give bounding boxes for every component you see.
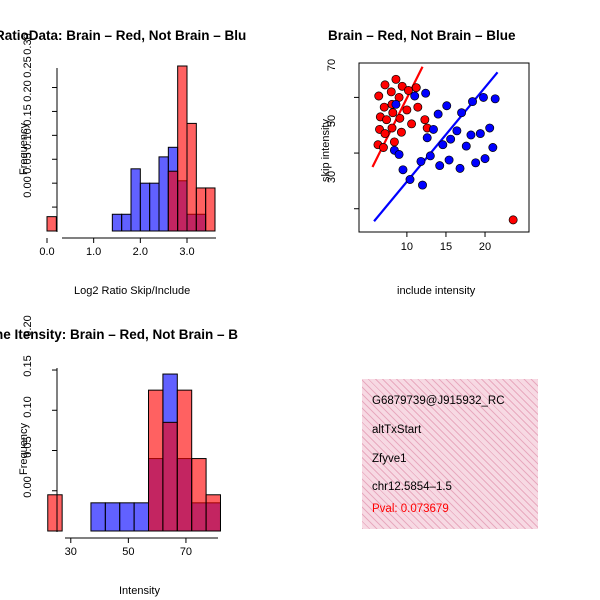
tick-label: 15 xyxy=(436,241,456,253)
scatter-point xyxy=(412,84,420,92)
hist-intensity-plot xyxy=(0,300,300,600)
histogram-bar xyxy=(120,503,134,531)
scatter-point xyxy=(381,129,389,137)
info-line-probe: G6879739@J915932_RC xyxy=(372,395,505,407)
tick-label: 3.0 xyxy=(175,246,199,258)
scatter-point xyxy=(392,75,400,83)
scatter-point xyxy=(381,81,389,89)
tick-label: 30 xyxy=(61,546,81,558)
scatter-point xyxy=(457,109,465,117)
histogram-bar xyxy=(206,188,215,231)
scatter-point xyxy=(418,181,426,189)
tick-label: 0.10 xyxy=(22,385,34,429)
scatter-point xyxy=(462,142,470,150)
tick-label: 50 xyxy=(326,105,338,137)
tick-label: 20 xyxy=(475,241,495,253)
scatter-point xyxy=(392,100,400,108)
scatter-point xyxy=(468,97,476,105)
tick-label: 0.20 xyxy=(22,304,34,348)
scatter-point xyxy=(429,125,437,133)
tick-label: 0.15 xyxy=(22,344,34,388)
tick-label: 0.05 xyxy=(22,425,34,469)
scatter-point xyxy=(403,106,411,114)
scatter-point xyxy=(421,116,429,124)
tick-label: 2.0 xyxy=(128,246,152,258)
histogram-bar xyxy=(122,214,131,231)
scatter-point xyxy=(399,166,407,174)
scatter-point xyxy=(382,116,390,124)
panel-info: G6879739@J915932_RC altTxStart Zfyve1 ch… xyxy=(300,300,600,600)
histogram-bar xyxy=(131,169,140,231)
scatter-point xyxy=(472,159,480,167)
scatter-point xyxy=(447,135,455,143)
scatter-point xyxy=(414,103,422,111)
scatter-point xyxy=(407,120,415,128)
histogram-bar xyxy=(168,171,177,231)
histogram-bar xyxy=(187,123,196,231)
scatter-point xyxy=(375,92,383,100)
scatter-plot xyxy=(300,0,600,300)
histogram-bar xyxy=(196,188,205,231)
scatter-point xyxy=(509,216,517,224)
histogram-bar xyxy=(163,422,177,531)
scatter-point xyxy=(436,161,444,169)
histogram-bar xyxy=(140,183,149,231)
scatter-point xyxy=(476,129,484,137)
scatter-point xyxy=(453,127,461,135)
scatter-point xyxy=(417,157,425,165)
scatter-point xyxy=(389,109,397,117)
scatter-point xyxy=(434,110,442,118)
tick-label: 30 xyxy=(326,161,338,193)
scatter-point xyxy=(395,150,403,158)
scatter-point xyxy=(479,93,487,101)
histogram-bar xyxy=(112,214,121,231)
tick-label: 10 xyxy=(397,241,417,253)
info-line-gene: Zfyve1 xyxy=(372,453,407,465)
scatter-point xyxy=(491,95,499,103)
tick-label: 1.0 xyxy=(82,246,106,258)
scatter-point xyxy=(486,124,494,132)
scatter-point xyxy=(422,89,430,97)
histogram-bar xyxy=(105,503,119,531)
tick-label: 70 xyxy=(176,546,196,558)
scatter-point xyxy=(390,138,398,146)
scatter-point xyxy=(406,175,414,183)
histogram-bar xyxy=(178,66,187,231)
histogram-bar xyxy=(149,390,163,531)
histogram-bar xyxy=(192,459,206,531)
tick-label: 70 xyxy=(326,49,338,81)
scatter-point xyxy=(426,152,434,160)
scatter-point xyxy=(489,143,497,151)
panel-scatter: Brain – Red, Not Brain – Blue skip inten… xyxy=(300,0,600,300)
scatter-point xyxy=(445,156,453,164)
tick-label: 0.0 xyxy=(35,246,59,258)
scatter-point xyxy=(443,102,451,110)
panel-hist-intensity: ne Itensity: Brain – Red, Not Brain – B … xyxy=(0,300,300,600)
scatter-point xyxy=(388,124,396,132)
histogram-bar xyxy=(91,503,105,531)
histogram-bar xyxy=(177,390,191,531)
scatter-point xyxy=(379,143,387,151)
scatter-point xyxy=(467,131,475,139)
scatter-point xyxy=(380,103,388,111)
info-line-event: altTxStart xyxy=(372,424,421,436)
scatter-point xyxy=(387,88,395,96)
scatter-point xyxy=(411,92,419,100)
scatter-point xyxy=(396,114,404,122)
scatter-point xyxy=(439,141,447,149)
tick-label: 50 xyxy=(118,546,138,558)
tick-label: 0.00 xyxy=(22,465,34,509)
tick-label: 0.30 xyxy=(22,22,34,66)
scatter-point xyxy=(481,155,489,163)
scatter-point xyxy=(423,134,431,142)
info-line-pval: Pval: 0.073679 xyxy=(372,503,449,515)
histogram-bar xyxy=(159,157,168,231)
scatter-point xyxy=(456,164,464,172)
panel-hist-ratio: RatioData: Brain – Red, Not Brain – Blu … xyxy=(0,0,300,300)
histogram-bar xyxy=(47,217,56,231)
info-line-locus: chr12.5854–1.5 xyxy=(372,481,452,493)
histogram-bar xyxy=(48,495,62,531)
scatter-point xyxy=(397,128,405,136)
histogram-bar xyxy=(150,183,159,231)
info-box: G6879739@J915932_RC altTxStart Zfyve1 ch… xyxy=(362,379,538,529)
histogram-bar xyxy=(134,503,148,531)
histogram-bar xyxy=(206,495,220,531)
